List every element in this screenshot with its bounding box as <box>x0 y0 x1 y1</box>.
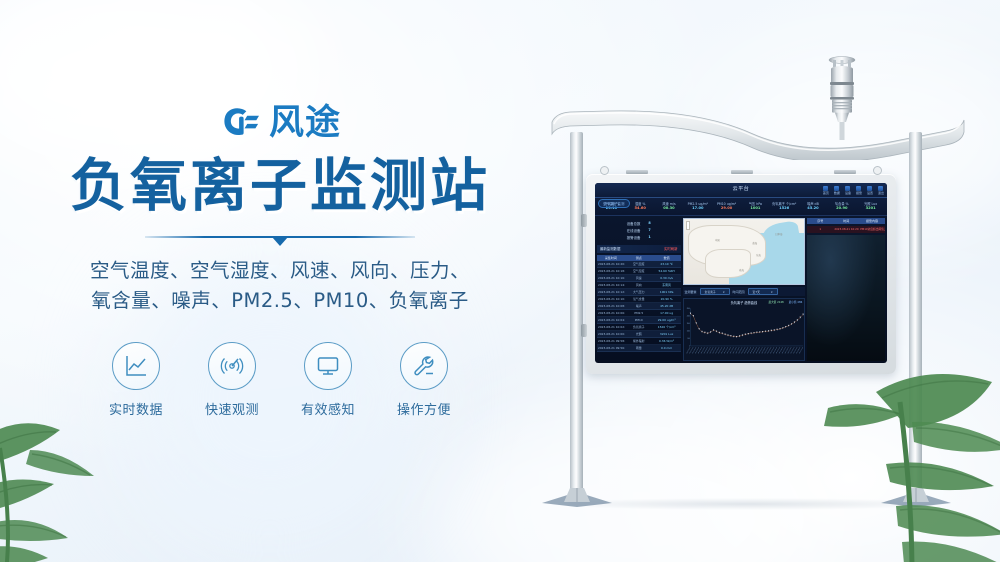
metric-card: 负氧离子 个/cm³1526 <box>771 202 798 212</box>
station-map[interactable]: 中国 东海 南海 黄海 日本海 <box>683 218 806 285</box>
table-row[interactable]: 2023-08-21 10:06:00PM2.517.00 ug <box>597 310 681 317</box>
wind-logo-icon <box>219 104 261 142</box>
site-photo <box>807 235 885 361</box>
alert-table-body: 12023-08-21 10:20PM10浓度超出阈值上限 <box>807 226 885 232</box>
table-cell: 2023-08-21 10:06:00 <box>597 310 625 316</box>
stat-row: 在线设备7 <box>627 228 651 233</box>
table-cell: 2023-08-21 10:12:00 <box>597 289 625 295</box>
table-cell: 噪声 <box>625 303 653 309</box>
feature-item-fast-observation: 快速观测 <box>197 342 267 418</box>
table-cell: PM10 <box>625 317 653 323</box>
stat-label: 设备总数 <box>627 221 641 226</box>
data-table-body: 2023-08-21 10:20:00空气温度23.10 ℃2023-08-21… <box>597 261 681 352</box>
feature-list: 实时数据 快速观测 <box>101 342 459 418</box>
param-label: 监测要素 <box>685 290 697 294</box>
toolbar-label: 设置 <box>867 191 873 195</box>
promo-banner: 风途 负氧离子监测站 空气温度、空气湿度、风速、风向、压力、 氧含量、噪声、PM… <box>0 0 1000 562</box>
stat-value: 7 <box>648 228 650 232</box>
hinge <box>581 324 587 337</box>
dashboard-title: 云平台 <box>733 185 750 192</box>
table-cell: 17.00 ug <box>653 310 681 316</box>
wrench-icon <box>400 342 448 390</box>
radar-signal-icon <box>208 342 256 390</box>
page-title: 负氧离子监测站 <box>70 156 490 218</box>
alert-column-header: 报警内容 <box>859 218 885 224</box>
metric-value: 20.90 <box>828 206 855 211</box>
map-region-label: 黄海 <box>752 241 757 245</box>
table-row[interactable]: 2023-08-21 10:12:00大气压力1001 hPa <box>597 289 681 296</box>
metric-value: 29.00 <box>713 206 740 211</box>
metric-value: 54.60 <box>627 206 654 211</box>
trend-chart[interactable]: 负氧离子 趋势曲线 最大值 2148 最小值 486 0500100015002… <box>683 298 806 361</box>
table-cell: 1526 个/cm³ <box>653 324 681 330</box>
brand-name: 风途 <box>269 106 341 141</box>
range-select[interactable]: 近7天 ▾ <box>748 288 778 295</box>
table-cell: 29.00 ug/m³ <box>653 317 681 323</box>
alert-cell: 2023-08-21 10:20 <box>833 226 859 232</box>
metric-card: 光照 Lux3201 <box>857 202 884 212</box>
hinge <box>581 214 587 227</box>
device-stats: 设备总数8在线设备7报警设备1 <box>597 218 681 243</box>
toolbar-item[interactable]: 报警 <box>856 186 862 196</box>
toolbar-item[interactable]: 退出 <box>878 186 884 196</box>
chevron-down-icon: ▾ <box>723 290 724 294</box>
left-panel: 设备总数8在线设备7报警设备1 最新监测数据 实时刷新 采集时间测点数值 202… <box>597 218 681 361</box>
chart-plot-area: 0500100015002000250008-15 00:0008-15 04:… <box>684 306 805 360</box>
metric-value: 00.30 <box>656 206 683 211</box>
toolbar-item[interactable]: 设置 <box>867 186 873 196</box>
dashboard-screen[interactable]: 云平台 首页 数据 设备 <box>595 183 887 363</box>
table-row[interactable]: 2023-08-21 10:04:00PM1029.00 ug/m³ <box>597 317 681 324</box>
subtitle-line-2: 氧含量、噪声、PM2.5、PM10、负氧离子 <box>90 286 470 316</box>
table-cell: 氧气含量 <box>625 296 653 302</box>
map-controls[interactable]: 监测要素 负氧离子 ▾ 时间范围 近7天 ▾ <box>683 287 806 296</box>
chart-point <box>689 313 690 315</box>
table-cell: 空气湿度 <box>625 268 653 274</box>
alert-column-header: 序号 <box>807 218 833 224</box>
title-divider <box>145 234 415 248</box>
param-value: 负氧离子 <box>705 290 716 294</box>
metric-card: PM10 ug/m³29.00 <box>713 202 740 212</box>
table-row[interactable]: 2023-08-21 10:18:00空气湿度54.60 %RH <box>597 268 681 275</box>
metric-card: 气压 hPa1001 <box>742 202 769 212</box>
table-row[interactable]: 2023-08-21 10:02:00负氧离子1526 个/cm³ <box>597 324 681 331</box>
feature-label: 实时数据 <box>109 399 163 418</box>
support-post-left <box>570 132 583 502</box>
table-cell: 2023-08-21 10:18:00 <box>597 268 625 274</box>
table-cell: 54.60 %RH <box>653 268 681 274</box>
hero-subtitle: 空气温度、空气湿度、风速、风向、压力、 氧含量、噪声、PM2.5、PM10、负氧… <box>90 256 470 316</box>
toolbar-label: 首页 <box>823 191 829 195</box>
toolbar-item[interactable]: 设备 <box>845 186 851 196</box>
table-cell: 2023-08-21 10:02:00 <box>597 324 625 330</box>
line-chart-icon <box>112 342 160 390</box>
metric-card: 氧含量 %20.90 <box>828 202 855 212</box>
table-row[interactable]: 2023-08-21 10:16:00风速0.30 m/s <box>597 275 681 282</box>
map-landmass <box>705 249 751 278</box>
metric-value: 17.00 <box>684 206 711 211</box>
feature-label: 操作方便 <box>397 399 451 418</box>
table-cell: PM2.5 <box>625 310 653 316</box>
table-row[interactable]: 2023-08-21 10:10:00氧气含量20.90 % <box>597 296 681 303</box>
table-cell: 1001 hPa <box>653 289 681 295</box>
table-cell: 2023-08-21 10:04:00 <box>597 317 625 323</box>
table-cell: 0.30 m/s <box>653 275 681 281</box>
table-cell: 3201 Lux <box>653 331 681 337</box>
wave-canopy <box>548 100 968 160</box>
table-cell: 2023-08-21 10:00:00 <box>597 331 625 337</box>
chart-point <box>692 315 693 317</box>
svg-text:2000: 2000 <box>686 315 689 317</box>
stat-row: 报警设备1 <box>627 235 651 240</box>
monitoring-station-kiosk: 云平台 首页 数据 设备 <box>528 60 978 530</box>
map-region-label: 东海 <box>756 253 761 257</box>
toolbar-label: 数据 <box>834 191 840 195</box>
range-label: 时间范围 <box>733 290 745 294</box>
dashboard-body: 设备总数8在线设备7报警设备1 最新监测数据 实时刷新 采集时间测点数值 202… <box>595 216 887 363</box>
toolbar-item[interactable]: 首页 <box>823 186 829 196</box>
chart-line <box>690 314 803 337</box>
chart-point <box>793 322 794 324</box>
table-cell: 东南风 <box>653 282 681 288</box>
svg-text:500: 500 <box>687 338 689 340</box>
table-row[interactable]: 2023-08-21 10:20:00空气温度23.10 ℃ <box>597 261 681 268</box>
table-cell: 20.90 % <box>653 296 681 302</box>
table-cell: 45.20 dB <box>653 303 681 309</box>
feature-label: 快速观测 <box>205 399 259 418</box>
data-table-title: 最新监测数据 <box>600 246 620 251</box>
chart-point <box>799 317 800 319</box>
table-cell: 2023-08-21 10:08:00 <box>597 303 625 309</box>
table-row[interactable]: 2023-08-21 10:08:00噪声45.20 dB <box>597 303 681 310</box>
range-value: 近7天 <box>753 290 760 294</box>
mount-clip <box>834 170 856 174</box>
table-cell: 光照 <box>625 331 653 337</box>
table-row[interactable]: 2023-08-21 09:56:00雨量0.0 mm <box>597 345 681 352</box>
table-cell: 0.0 mm <box>653 345 681 351</box>
metric-card: 湿度 %54.60 <box>627 202 654 212</box>
table-cell: 2023-08-21 10:16:00 <box>597 275 625 281</box>
svg-text:1000: 1000 <box>686 330 689 332</box>
table-cell: 风向 <box>625 282 653 288</box>
feature-item-realtime-data: 实时数据 <box>101 342 171 418</box>
monitor-icon <box>304 342 352 390</box>
table-row[interactable]: 2023-08-21 09:58:00紫外辐射0.36 W/m² <box>597 338 681 345</box>
mount-ring-right <box>873 166 882 175</box>
toolbar-item[interactable]: 数据 <box>834 186 840 196</box>
chart-point <box>698 328 699 330</box>
refresh-badge: 实时刷新 <box>664 246 678 251</box>
chart-point <box>796 319 797 321</box>
table-cell: 空气温度 <box>625 261 653 267</box>
chart-legend: 最大值 2148 最小值 486 <box>768 300 802 304</box>
subtitle-line-1: 空气温度、空气湿度、风速、风向、压力、 <box>90 256 470 286</box>
toolbar-label: 设备 <box>845 191 851 195</box>
svg-text:0: 0 <box>689 345 690 347</box>
stat-row: 设备总数8 <box>627 221 651 226</box>
alert-cell: PM10浓度超出阈值上限 <box>859 226 885 232</box>
table-cell: 风速 <box>625 275 653 281</box>
legend-entry: 最大值 2148 <box>768 300 783 304</box>
svg-text:1500: 1500 <box>686 323 689 325</box>
mount-clip <box>731 170 753 174</box>
alert-row[interactable]: 12023-08-21 10:20PM10浓度超出阈值上限 <box>807 226 885 232</box>
metric-card: 风速 m/s00.30 <box>656 202 683 212</box>
dashboard-toolbar[interactable]: 首页 数据 设备 报警 <box>823 186 884 196</box>
table-cell: 2023-08-21 10:20:00 <box>597 261 625 267</box>
hero-text-block: 风途 负氧离子监测站 空气温度、空气湿度、风速、风向、压力、 氧含量、噪声、PM… <box>0 104 560 418</box>
stat-value: 1 <box>648 235 650 239</box>
alert-cell: 1 <box>807 226 833 232</box>
svg-text:2500: 2500 <box>686 308 689 310</box>
station-tab[interactable]: 负氧离子监测 <box>598 199 630 208</box>
table-cell: 0.36 W/m² <box>653 338 681 344</box>
display-housing: 云平台 首页 数据 设备 <box>586 174 896 374</box>
center-panel: 中国 东海 南海 黄海 日本海 监测要素 负氧离子 ▾ <box>683 218 806 361</box>
data-table-title-bar: 最新监测数据 实时刷新 <box>597 245 681 253</box>
map-region-label: 中国 <box>715 238 720 242</box>
table-cell: 2023-08-21 09:56:00 <box>597 345 625 351</box>
table-cell: 2023-08-21 09:58:00 <box>597 338 625 344</box>
brand-logo: 风途 <box>219 104 341 142</box>
divider-triangle-icon <box>272 237 288 246</box>
table-row[interactable]: 2023-08-21 10:00:00光照3201 Lux <box>597 331 681 338</box>
feature-label: 有效感知 <box>301 399 355 418</box>
alert-column-header: 时间 <box>833 218 859 224</box>
stat-label: 报警设备 <box>627 235 641 240</box>
toolbar-label: 报警 <box>856 191 862 195</box>
metric-value: 1001 <box>742 206 769 211</box>
mount-clip <box>626 170 648 174</box>
feature-item-easy-operation: 操作方便 <box>389 342 459 418</box>
table-cell: 负氧离子 <box>625 324 653 330</box>
metric-card: 噪声 dB45.20 <box>800 202 827 212</box>
chart-title: 负氧离子 趋势曲线 <box>731 300 758 305</box>
metric-value: 1526 <box>771 206 798 211</box>
table-cell: 雨量 <box>625 345 653 351</box>
ground-shadow <box>548 498 948 510</box>
metrics-bar: 空气温度 ℃23.10湿度 %54.60风速 m/s00.30PM2.5 ug/… <box>595 198 887 216</box>
map-region-label: 日本海 <box>775 232 782 236</box>
mount-ring-left <box>600 166 609 175</box>
metric-value: 3201 <box>857 206 884 211</box>
map-region-label: 南海 <box>739 268 744 272</box>
support-post-right <box>909 132 922 502</box>
stat-label: 在线设备 <box>627 228 641 233</box>
metric-card: PM2.5 ug/m³17.00 <box>684 202 711 212</box>
right-panel: 序号时间报警内容 12023-08-21 10:20PM10浓度超出阈值上限 <box>807 218 885 361</box>
feature-item-effective-sensing: 有效感知 <box>293 342 363 418</box>
dashboard-header: 云平台 首页 数据 设备 <box>595 183 887 198</box>
table-cell: 紫外辐射 <box>625 338 653 344</box>
table-cell: 23.10 ℃ <box>653 261 681 267</box>
data-table[interactable]: 采集时间测点数值 2023-08-21 10:20:00空气温度23.10 ℃2… <box>597 255 681 361</box>
param-select[interactable]: 负氧离子 ▾ <box>700 288 730 295</box>
table-row[interactable]: 2023-08-21 10:14:00风向东南风 <box>597 282 681 289</box>
map-zoom-icon[interactable] <box>686 221 690 230</box>
chevron-down-icon: ▾ <box>771 290 772 294</box>
legend-entry: 最小值 486 <box>789 300 803 304</box>
table-cell: 大气压力 <box>625 289 653 295</box>
table-cell: 2023-08-21 10:10:00 <box>597 296 625 302</box>
stat-value: 8 <box>648 221 650 225</box>
alert-table-header: 序号时间报警内容 <box>807 218 885 224</box>
table-cell: 2023-08-21 10:14:00 <box>597 282 625 288</box>
metric-value: 45.20 <box>800 206 827 211</box>
toolbar-label: 退出 <box>878 191 884 195</box>
